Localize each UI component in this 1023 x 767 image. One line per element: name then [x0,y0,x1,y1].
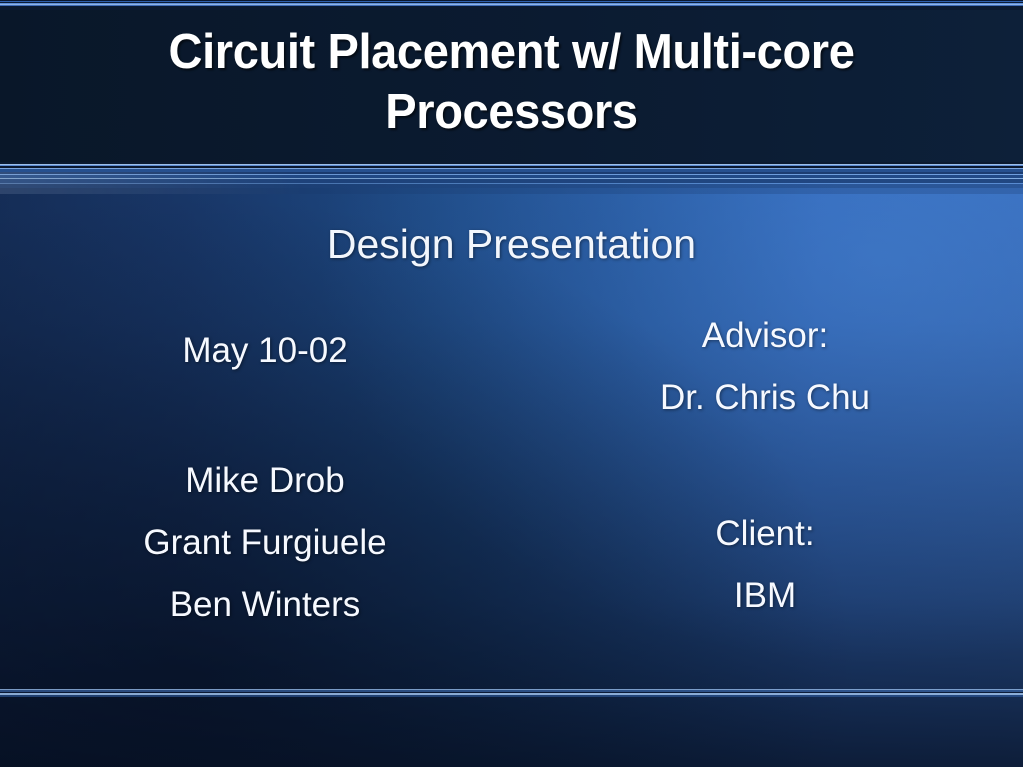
title-bar-top-rule [0,0,1023,10]
right-column-spacer [545,429,985,503]
advisor-name: Dr. Chris Chu [545,367,985,429]
left-column-spacer [40,382,490,450]
right-column: Advisor: Dr. Chris Chu Client: IBM [545,305,985,627]
advisor-label: Advisor: [545,305,985,367]
title-bar: Circuit Placement w/ Multi-core Processo… [0,0,1023,172]
slide-title: Circuit Placement w/ Multi-core Processo… [20,22,1002,142]
team-member-3: Ben Winters [40,574,490,636]
title-bar-bottom-rule [0,162,1023,172]
slide-subtitle: Design Presentation [0,218,1023,270]
left-column: May 10-02 Mike Drob Grant Furgiuele Ben … [40,320,490,636]
team-member-2: Grant Furgiuele [40,512,490,574]
presentation-date: May 10-02 [40,320,490,382]
client-label: Client: [545,503,985,565]
client-name: IBM [545,565,985,627]
team-member-1: Mike Drob [40,450,490,512]
presentation-slide: Circuit Placement w/ Multi-core Processo… [0,0,1023,767]
